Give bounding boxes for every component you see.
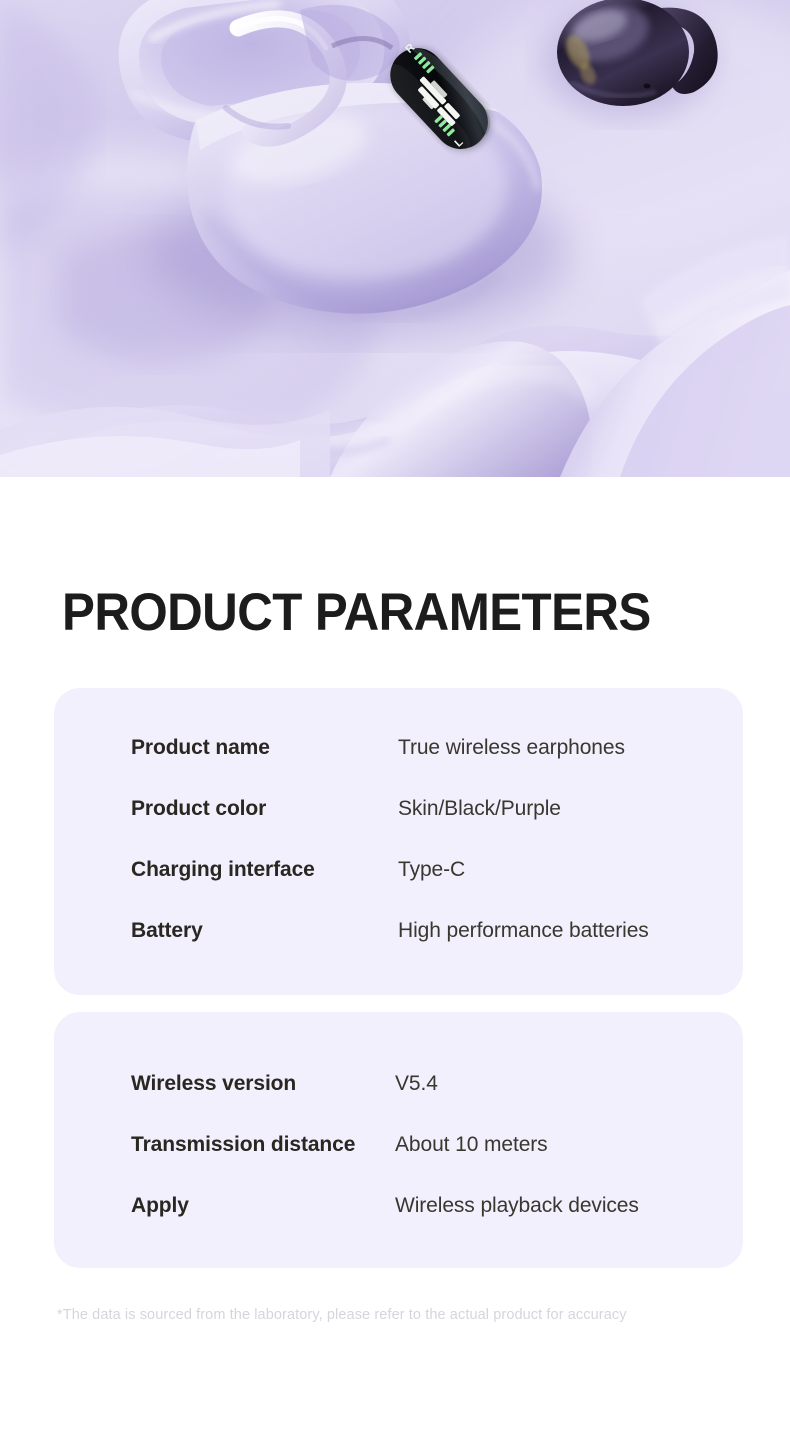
- spec-row: Transmission distance About 10 meters: [54, 1132, 743, 1158]
- spec-label: Product name: [131, 736, 270, 760]
- spec-row: Wireless version V5.4: [54, 1071, 743, 1097]
- spec-row: Apply Wireless playback devices: [54, 1193, 743, 1219]
- spec-value: Skin/Black/Purple: [398, 797, 561, 821]
- hero-illustration: L R: [0, 0, 790, 477]
- spec-label: Apply: [131, 1194, 189, 1218]
- spec-label: Wireless version: [131, 1072, 296, 1096]
- product-detail-page: L R: [0, 0, 790, 1451]
- spec-row: Product name True wireless earphones: [54, 735, 743, 761]
- spec-value: V5.4: [395, 1072, 438, 1096]
- spec-value: Type-C: [398, 858, 465, 882]
- primary-spec-card: Product name True wireless earphones Pro…: [54, 688, 743, 995]
- spec-label: Charging interface: [131, 858, 315, 882]
- spec-value: High performance batteries: [398, 919, 649, 943]
- spec-row: Battery High performance batteries: [54, 918, 743, 944]
- spec-value: Wireless playback devices: [395, 1194, 639, 1218]
- spec-label: Battery: [131, 919, 203, 943]
- spec-row: Charging interface Type-C: [54, 857, 743, 883]
- hero-product-image: L R: [0, 0, 790, 477]
- spec-value: True wireless earphones: [398, 736, 625, 760]
- secondary-spec-card: Wireless version V5.4 Transmission dista…: [54, 1012, 743, 1268]
- disclaimer-footnote: *The data is sourced from the laboratory…: [57, 1307, 627, 1323]
- spec-label: Product color: [131, 797, 266, 821]
- spec-value: About 10 meters: [395, 1133, 548, 1157]
- page-title: PRODUCT PARAMETERS: [62, 584, 651, 642]
- spec-row: Product color Skin/Black/Purple: [54, 796, 743, 822]
- spec-label: Transmission distance: [131, 1133, 355, 1157]
